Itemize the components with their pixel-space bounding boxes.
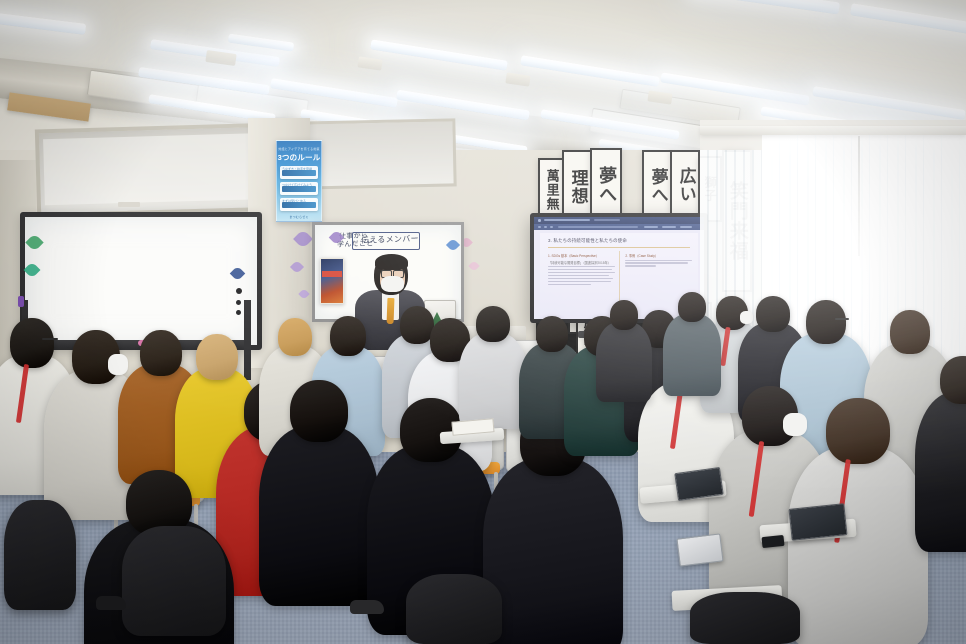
face-mask bbox=[108, 354, 128, 375]
blind-cord[interactable] bbox=[858, 136, 860, 256]
student-head bbox=[10, 318, 54, 368]
calligraphy-text: 夢へ bbox=[597, 166, 615, 204]
student-body bbox=[596, 322, 652, 402]
bookmark-item[interactable] bbox=[680, 226, 692, 229]
face-mask bbox=[783, 413, 807, 436]
tablet-device[interactable] bbox=[788, 503, 847, 541]
calligraphy-text: 萬里無 bbox=[544, 169, 557, 211]
poster-subtitle: 対話とアイデアを育てる約束 bbox=[277, 146, 321, 153]
calligraphy-panel: 夢へ bbox=[590, 148, 622, 222]
slide-title: 3. 私たちの持続可能性と私たちの使命 bbox=[548, 238, 627, 244]
flyer-banner bbox=[322, 271, 342, 277]
student-body bbox=[915, 392, 966, 552]
browser-toolbar bbox=[534, 224, 704, 230]
slide-body-line bbox=[548, 266, 615, 267]
slide-left-column: 1. SDGs 基本（Basic Perspective） 「持続可能な開発目標… bbox=[548, 253, 618, 287]
backpack[interactable] bbox=[122, 526, 226, 636]
student-head bbox=[330, 316, 366, 356]
backpack[interactable] bbox=[4, 500, 76, 610]
classroom-photo: 対話とアイデアを育てる約束 3つのルール うなずき・拍手を意識 つなげて広げてみ… bbox=[0, 0, 966, 644]
poster-rule-item: つなげて広げてみよう bbox=[280, 182, 318, 195]
upper-window bbox=[299, 118, 456, 189]
poster-footer: まつむらゼミ bbox=[277, 214, 321, 221]
student-head bbox=[756, 296, 790, 332]
poster-rule-item: まずは受けとめる bbox=[280, 198, 318, 211]
student-body bbox=[663, 314, 721, 396]
slide-left-heading: 1. SDGs 基本（Basic Perspective） bbox=[548, 253, 618, 258]
calligraphy-text: 夢へ bbox=[648, 168, 665, 204]
whiteboard-leg bbox=[244, 300, 251, 380]
slide-body-line bbox=[548, 278, 613, 279]
slide-body-line bbox=[625, 262, 688, 263]
presenter-tie bbox=[387, 298, 395, 324]
slide-body-line bbox=[625, 260, 692, 261]
student-head bbox=[278, 318, 312, 356]
calligraphy-text: 広い bbox=[676, 167, 693, 203]
face-mask bbox=[381, 276, 404, 292]
slide-column-divider bbox=[619, 251, 620, 307]
student-head bbox=[400, 306, 434, 344]
student-body bbox=[459, 333, 527, 429]
student-head bbox=[610, 300, 638, 330]
glasses-icon bbox=[835, 318, 849, 320]
slide-body-line bbox=[548, 281, 611, 282]
whiteboard-eraser[interactable] bbox=[118, 202, 140, 207]
event-flyer[interactable] bbox=[320, 258, 344, 304]
student-body bbox=[483, 458, 623, 644]
slide-left-subheading: 「持続可能な開発目標」（国連採択2015年） bbox=[548, 260, 618, 265]
poster-rule-item: うなずき・拍手を意識 bbox=[280, 166, 318, 179]
slide-right-column: 2. 事例（Case Study） bbox=[625, 253, 695, 268]
calligraphy-panel: 夢へ bbox=[642, 150, 672, 222]
browser-tab[interactable] bbox=[594, 219, 620, 222]
student-head bbox=[890, 310, 930, 354]
poster-three-rules[interactable]: 対話とアイデアを育てる約束 3つのルール うなずき・拍手を意識 つなげて広げてみ… bbox=[276, 140, 322, 222]
address-bar[interactable] bbox=[558, 226, 638, 229]
student-head bbox=[196, 334, 238, 380]
poster-rule-label bbox=[282, 186, 316, 192]
roller-shade bbox=[43, 133, 275, 205]
purple-clip-magnet bbox=[18, 296, 24, 307]
browser-titlebar bbox=[534, 217, 704, 224]
upper-window bbox=[35, 123, 283, 218]
slide-body-line bbox=[548, 284, 591, 285]
student-body bbox=[259, 426, 379, 606]
slide-right-heading: 2. 事例（Case Study） bbox=[625, 253, 695, 258]
browser-tab-favicon bbox=[538, 219, 541, 222]
back-icon[interactable] bbox=[538, 226, 541, 229]
poster-rule-label bbox=[282, 202, 316, 208]
student-head bbox=[678, 292, 706, 322]
slide-body-line bbox=[548, 269, 612, 270]
forward-icon[interactable] bbox=[544, 226, 547, 229]
shoe bbox=[350, 600, 384, 614]
glasses-icon bbox=[42, 338, 58, 340]
student-head bbox=[140, 330, 182, 376]
reload-icon[interactable] bbox=[550, 226, 553, 229]
backpack[interactable] bbox=[406, 574, 502, 644]
bookmark-item[interactable] bbox=[644, 226, 658, 229]
face-mask bbox=[740, 311, 753, 324]
presenter-hair bbox=[375, 254, 408, 270]
whiteboard-highlight-box bbox=[352, 232, 420, 250]
blind-rail bbox=[700, 126, 966, 135]
slide-body-line bbox=[548, 272, 615, 273]
slide-body-line bbox=[625, 265, 656, 266]
calligraphy-text: 理想 bbox=[568, 169, 585, 205]
black-round-magnet bbox=[236, 310, 241, 315]
bookmark-item[interactable] bbox=[662, 226, 676, 229]
browser-tab[interactable] bbox=[544, 219, 590, 222]
student-head bbox=[536, 316, 568, 352]
student-head bbox=[826, 398, 890, 464]
student-head bbox=[806, 300, 846, 344]
student-body bbox=[788, 447, 928, 644]
calligraphy-panel: 広い bbox=[670, 150, 700, 220]
poster-rule-label bbox=[282, 170, 316, 176]
student-head bbox=[476, 306, 510, 342]
whiteboard-left[interactable] bbox=[20, 212, 262, 350]
tablet-device[interactable] bbox=[676, 533, 723, 566]
smartphone[interactable] bbox=[761, 535, 784, 548]
shoe bbox=[96, 596, 126, 610]
backpack[interactable] bbox=[690, 592, 800, 644]
slide-body-line bbox=[548, 275, 609, 276]
poster-title: 3つのルール bbox=[277, 154, 321, 161]
student-head bbox=[290, 380, 348, 442]
slide-divider bbox=[548, 247, 690, 248]
black-round-magnet bbox=[236, 288, 242, 294]
black-round-magnet bbox=[236, 300, 241, 305]
